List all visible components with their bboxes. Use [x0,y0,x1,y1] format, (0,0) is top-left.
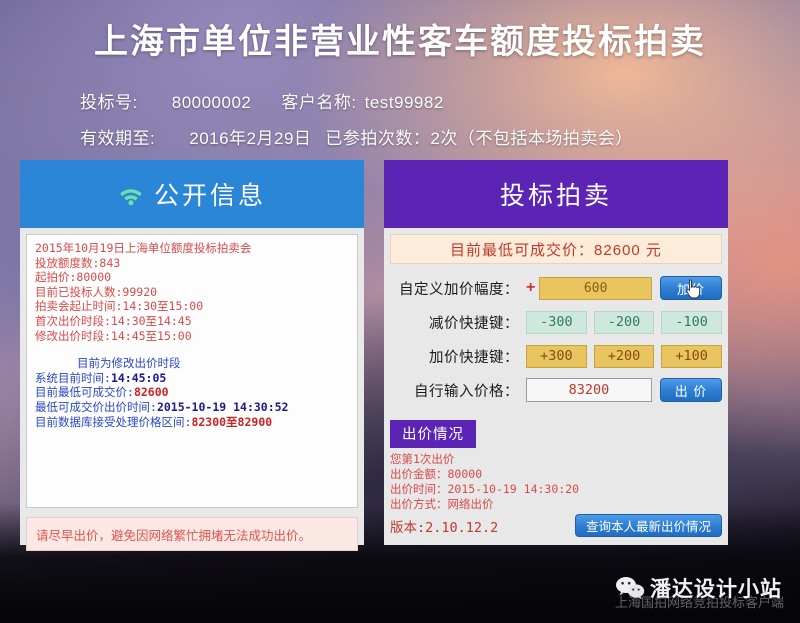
info-line: 2015年10月19日上海单位额度投标拍卖会 [35,241,349,256]
bidding-panel-header: 投标拍卖 [384,160,728,228]
decrease-key-300[interactable]: -300 [526,311,587,334]
validity-label: 有效期至: [80,124,155,149]
info-line: 目前已投标人数:99920 [35,285,349,300]
submit-bid-button-label: 出 价 [675,381,708,400]
bidding-panel: 投标拍卖 目前最低可成交价：82600 元 自定义加价幅度： + 600 加价 [384,160,728,545]
network-notice: 请尽早出价，避免因网络繁忙拥堵无法成功出价。 [26,517,358,551]
status-line-min-price: 目前最低可成交价:82600 [35,385,349,400]
price-input-label: 自行输入价格： [390,380,526,401]
info-line: 起拍价:80000 [35,270,349,285]
bid-number-label: 投标号: [80,88,138,113]
customer-name-label: 客户名称: [281,88,356,113]
query-latest-bid-button[interactable]: 查询本人最新出价情况 [575,514,722,537]
bid-info-line: 出价方式：网络出价 [390,497,722,512]
bid-number-value: 80000002 [172,93,252,113]
stage-note: 目前为修改出价时段 [35,356,349,371]
bidding-panel-title: 投标拍卖 [500,176,612,212]
header-meta-row-1: 投标号: 80000002 客户名称: test99982 [0,88,800,113]
custom-step-row: 自定义加价幅度： + 600 加价 [390,274,722,302]
decrease-keys-row: 减价快捷键： -300 -200 -100 [390,308,722,336]
bid-info-line: 出价时间：2015-10-19 14:30:20 [390,482,722,497]
brand-watermark: 潘达设计小站 [615,571,782,605]
bidding-panel-body: 目前最低可成交价：82600 元 自定义加价幅度： + 600 加价 [384,228,728,545]
info-line: 首次出价时段:14:30至14:45 [35,314,349,329]
bid-form: 自定义加价幅度： + 600 加价 减价快捷键： [390,274,722,404]
validity-value: 2016年2月29日 [189,124,311,149]
bid-info-line: 出价金额：80000 [390,467,722,482]
increase-keys-label: 加价快捷键： [390,346,526,367]
wechat-icon [615,575,645,601]
page-title: 上海市单位非营业性客车额度投标拍卖 [0,14,800,63]
attend-count-text: 已参拍次数：2次（不包括本场拍卖会） [325,124,632,149]
decrease-key-200[interactable]: -200 [594,311,655,334]
increase-keys-row: 加价快捷键： +300 +200 +100 [390,342,722,370]
public-info-panel-title: 公开信息 [154,176,266,212]
header-meta-row-2: 有效期至: 2016年2月29日 已参拍次数：2次（不包括本场拍卖会） [0,124,800,149]
increase-key-300[interactable]: +300 [526,345,587,368]
page-header: 上海市单位非营业性客车额度投标拍卖 投标号: 80000002 客户名称: te… [0,0,800,150]
decrease-keys-label: 减价快捷键： [390,312,526,333]
network-notice-text: 请尽早出价，避免因网络繁忙拥堵无法成功出价。 [36,525,311,544]
current-lowest-price: 目前最低可成交价：82600 元 [390,234,722,264]
wifi-icon [118,184,144,204]
public-info-panel: 公开信息 2015年10月19日上海单位额度投标拍卖会 投放额度数:843 起拍… [20,160,364,545]
custom-step-label: 自定义加价幅度： [390,278,526,299]
version-label: 版本:2.10.12.2 [390,516,498,536]
price-input[interactable]: 83200 [526,378,652,402]
query-latest-bid-button-label: 查询本人最新出价情况 [586,516,711,535]
info-line: 拍卖会起止时间:14:30至15:00 [35,299,349,314]
increase-key-200[interactable]: +200 [594,345,655,368]
plus-sign-icon: + [526,279,535,297]
public-info-panel-body: 2015年10月19日上海单位额度投标拍卖会 投放额度数:843 起拍价:800… [20,228,364,545]
submit-bid-button[interactable]: 出 价 [660,378,722,402]
info-line: 投放额度数:843 [35,256,349,271]
bid-status-info: 您第1次出价 出价金额：80000 出价时间：2015-10-19 14:30:… [390,452,722,512]
status-line-min-price-time: 最低可成交价出价时间:2015-10-19 14:30:52 [35,400,349,415]
public-info-text-box: 2015年10月19日上海单位额度投标拍卖会 投放额度数:843 起拍价:800… [26,234,358,508]
decrease-key-100[interactable]: -100 [661,311,722,334]
add-price-button[interactable]: 加价 [660,276,722,300]
brand-watermark-text: 潘达设计小站 [650,573,782,603]
custom-step-input[interactable]: 600 [539,277,652,300]
increase-key-100[interactable]: +100 [661,345,722,368]
public-info-panel-header: 公开信息 [20,160,364,228]
bid-info-line: 您第1次出价 [390,452,722,467]
price-input-row: 自行输入价格： 83200 出 价 [390,376,722,404]
screenshot-root: 上海市单位非营业性客车额度投标拍卖 投标号: 80000002 客户名称: te… [0,0,800,623]
bidding-panel-footer: 版本:2.10.12.2 查询本人最新出价情况 [390,514,722,537]
status-line-price-range: 目前数据库接受处理价格区间:82300至82900 [35,415,349,430]
info-line: 修改出价时段:14:45至15:00 [35,329,349,344]
customer-name-value: test99982 [365,93,444,113]
status-line-system-time: 系统目前时间:14:45:05 [35,371,349,386]
bid-status-section-title: 出价情况 [390,420,476,448]
mouse-cursor-icon [685,279,701,299]
